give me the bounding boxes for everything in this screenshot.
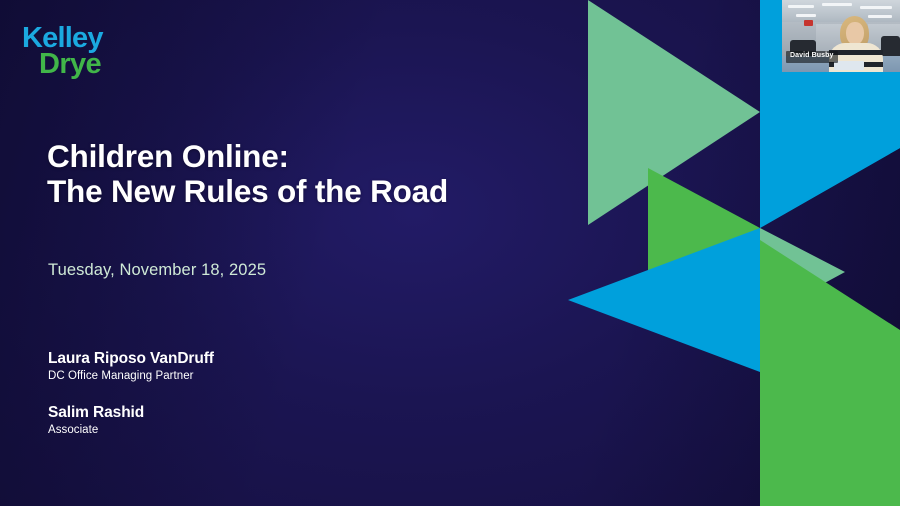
speaker-list: Laura Riposo VanDruff DC Office Managing… <box>48 349 214 439</box>
kelley-drye-logo: Kelley Drye <box>22 24 142 84</box>
webcam-ceiling-light <box>796 14 816 17</box>
speaker-entry: Salim Rashid Associate <box>48 403 214 439</box>
webcam-person-face <box>846 22 864 45</box>
webcam-cabinet <box>816 24 834 52</box>
slide-title: Children Online: The New Rules of the Ro… <box>47 139 448 210</box>
speaker-title: Associate <box>48 423 214 439</box>
geometric-triangle-artwork <box>560 0 900 506</box>
webcam-ceiling-light <box>822 3 852 6</box>
slide-title-line-1: Children Online: <box>47 139 448 174</box>
webcam-video-tile[interactable]: David Busby <box>782 0 900 72</box>
speaker-title: DC Office Managing Partner <box>48 369 214 385</box>
webcam-participant-name: David Busby <box>786 51 838 63</box>
event-date: Tuesday, November 18, 2025 <box>48 261 266 280</box>
logo-text-drye: Drye <box>39 50 142 79</box>
speaker-name: Salim Rashid <box>48 403 214 422</box>
webcam-ceiling-light <box>860 6 892 9</box>
webcam-ceiling-light <box>868 15 892 18</box>
presentation-slide-screen: Kelley Drye Children Online: The New Rul… <box>0 0 900 506</box>
slide-title-line-2: The New Rules of the Road <box>47 174 448 209</box>
webcam-desk-paper <box>834 61 864 70</box>
speaker-name: Laura Riposo VanDruff <box>48 349 214 368</box>
webcam-exit-sign <box>804 20 813 26</box>
speaker-entry: Laura Riposo VanDruff DC Office Managing… <box>48 349 214 385</box>
webcam-ceiling-light <box>788 5 814 8</box>
